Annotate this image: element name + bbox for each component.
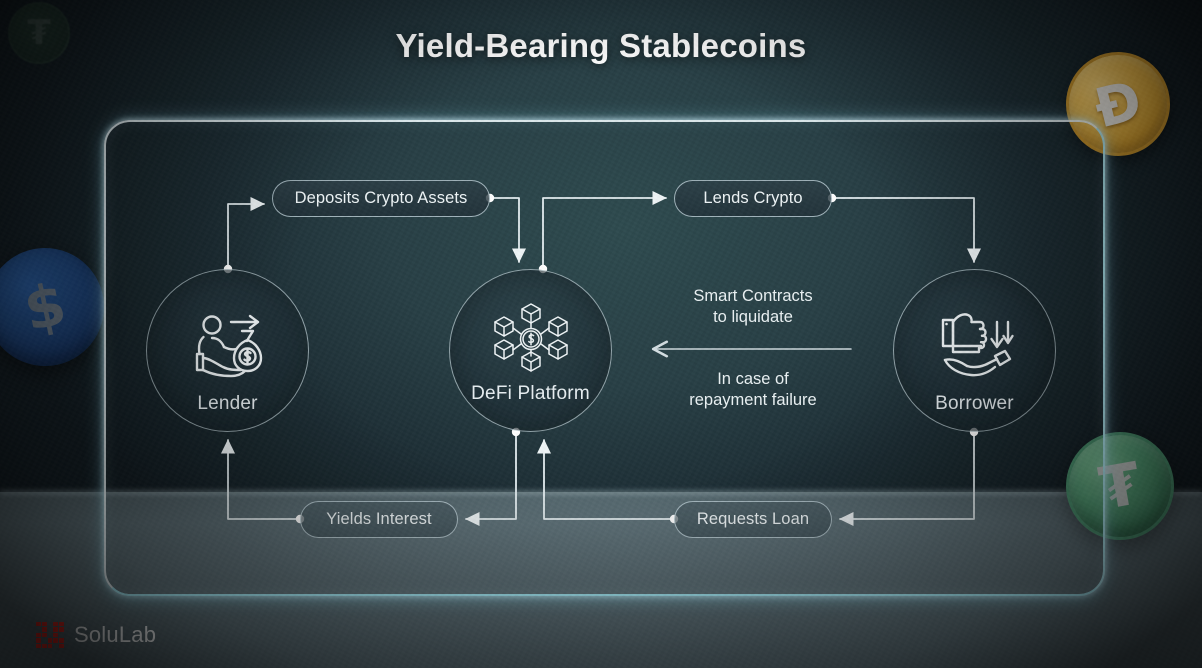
node-label-lender: Lender: [197, 392, 257, 415]
pill-label-requests: Requests Loan: [697, 510, 809, 529]
brand-logo: SoluLab: [36, 622, 156, 648]
node-defi-platform[interactable]: DeFi Platform: [449, 269, 612, 432]
pill-deposits-crypto-assets[interactable]: Deposits Crypto Assets: [272, 180, 490, 217]
pill-label-deposits: Deposits Crypto Assets: [295, 189, 468, 208]
hand-giving-money-icon: [932, 304, 1018, 386]
pill-yields-interest[interactable]: Yields Interest: [300, 501, 458, 538]
node-label-borrower: Borrower: [935, 392, 1014, 415]
hand-money-bag-icon: [185, 304, 271, 386]
pill-lends-crypto[interactable]: Lends Crypto: [674, 180, 832, 217]
node-lender[interactable]: Lender: [146, 269, 309, 432]
pill-requests-loan[interactable]: Requests Loan: [674, 501, 832, 538]
node-label-defi-platform: DeFi Platform: [471, 382, 590, 405]
annotation-repayment-failure: In case of repayment failure: [653, 369, 853, 411]
infographic-canvas: ₮ $ Đ ₮ Yield-Bearing Stablecoins: [0, 0, 1202, 668]
blockchain-network-coin-icon: [488, 298, 574, 380]
annotation-smart-contracts-liquidate: Smart Contracts to liquidate: [653, 286, 853, 328]
pill-label-yields: Yields Interest: [326, 510, 431, 529]
brand-name: SoluLab: [74, 622, 156, 648]
pill-label-lends: Lends Crypto: [703, 189, 802, 208]
solulab-logo-icon: [36, 622, 64, 648]
node-borrower[interactable]: Borrower: [893, 269, 1056, 432]
